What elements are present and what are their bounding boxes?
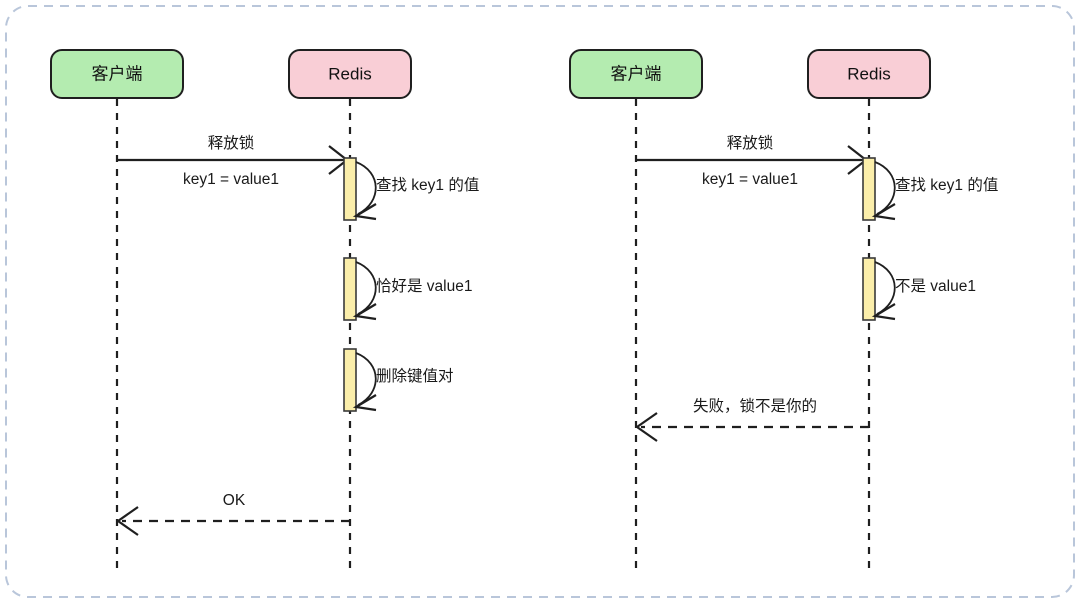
participant-label-redis-right: Redis	[847, 64, 890, 83]
activation-bar	[344, 349, 356, 411]
arrow-head-self	[875, 204, 895, 219]
self-call-label: 不是 value1	[895, 278, 976, 295]
self-call-label: 恰好是 value1	[376, 277, 472, 295]
participant-client-right[interactable]: 客户端	[570, 50, 702, 98]
message-label-bottom: key1 = value1	[183, 171, 279, 188]
panel-success-case: 客户端 Redis 释放锁 key1 = value1 查找 key1 的值	[51, 50, 479, 572]
participant-redis-left[interactable]: Redis	[289, 50, 411, 98]
participant-label-redis-left: Redis	[328, 64, 371, 83]
self-call-exactly-value1[interactable]: 恰好是 value1	[344, 258, 472, 320]
sequence-diagram: 客户端 Redis 释放锁 key1 = value1 查找 key1 的值	[0, 0, 1080, 605]
arrow-head-self	[356, 204, 376, 219]
self-call-lookup-key-left[interactable]: 查找 key1 的值	[344, 158, 479, 220]
activation-bar	[863, 158, 875, 220]
message-label-top: 失败，锁不是你的	[693, 397, 817, 415]
message-release-lock-right[interactable]: 释放锁 key1 = value1	[636, 134, 866, 188]
arrow-head-self	[356, 304, 376, 319]
message-label-bottom: key1 = value1	[702, 171, 798, 188]
message-ok-return[interactable]: OK	[118, 492, 350, 535]
self-call-label: 查找 key1 的值	[376, 176, 479, 194]
self-call-lookup-key-right[interactable]: 查找 key1 的值	[863, 158, 998, 220]
participant-redis-right[interactable]: Redis	[808, 50, 930, 98]
self-call-not-value1[interactable]: 不是 value1	[863, 258, 976, 320]
sequence-diagram-canvas: 客户端 Redis 释放锁 key1 = value1 查找 key1 的值	[0, 0, 1080, 605]
message-label-top: 释放锁	[727, 134, 774, 152]
participant-label-client-right: 客户端	[611, 64, 662, 83]
participant-client-left[interactable]: 客户端	[51, 50, 183, 98]
activation-bar	[863, 258, 875, 320]
panel-failure-case: 客户端 Redis 释放锁 key1 = value1 查找 key1 的值	[570, 50, 998, 572]
message-release-lock-left[interactable]: 释放锁 key1 = value1	[117, 134, 347, 188]
arrow-head-self	[356, 395, 376, 410]
activation-bar	[344, 258, 356, 320]
self-call-label: 查找 key1 的值	[895, 176, 998, 194]
message-label-top: OK	[223, 492, 246, 509]
message-label-top: 释放锁	[208, 134, 255, 152]
participant-label-client-left: 客户端	[92, 64, 143, 83]
self-call-label: 删除键值对	[376, 367, 454, 385]
message-fail-return[interactable]: 失败，锁不是你的	[637, 397, 869, 441]
activation-bar	[344, 158, 356, 220]
self-call-delete-kv[interactable]: 删除键值对	[344, 349, 454, 411]
arrow-head-self	[875, 304, 895, 319]
